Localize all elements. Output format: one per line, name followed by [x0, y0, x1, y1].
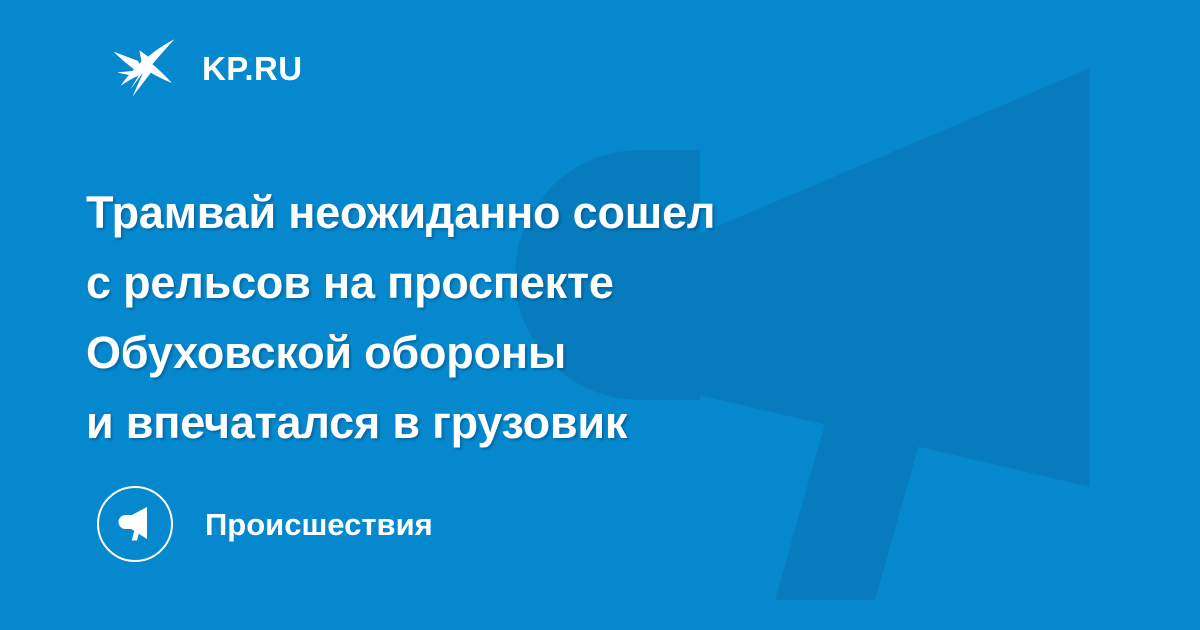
swallow-bird-icon — [108, 37, 180, 99]
category-icon-circle — [97, 486, 173, 562]
brand-name: KP.RU — [202, 52, 302, 85]
megaphone-icon — [113, 502, 157, 546]
category-label: Происшествия — [205, 509, 433, 540]
headline-line-1: Трамвай неожиданно сошел — [86, 178, 986, 248]
category-badge[interactable]: Происшествия — [97, 484, 433, 564]
headline-line-2: с рельсов на проспекте — [86, 248, 986, 318]
headline: Трамвай неожиданно сошел с рельсов на пр… — [86, 178, 986, 458]
headline-line-4: и впечатался в грузовик — [86, 388, 986, 458]
headline-line-3: Обуховской обороны — [86, 318, 986, 388]
brand-logo[interactable]: KP.RU — [108, 36, 302, 100]
social-share-card: KP.RU Трамвай неожиданно сошел с рельсов… — [0, 0, 1200, 630]
